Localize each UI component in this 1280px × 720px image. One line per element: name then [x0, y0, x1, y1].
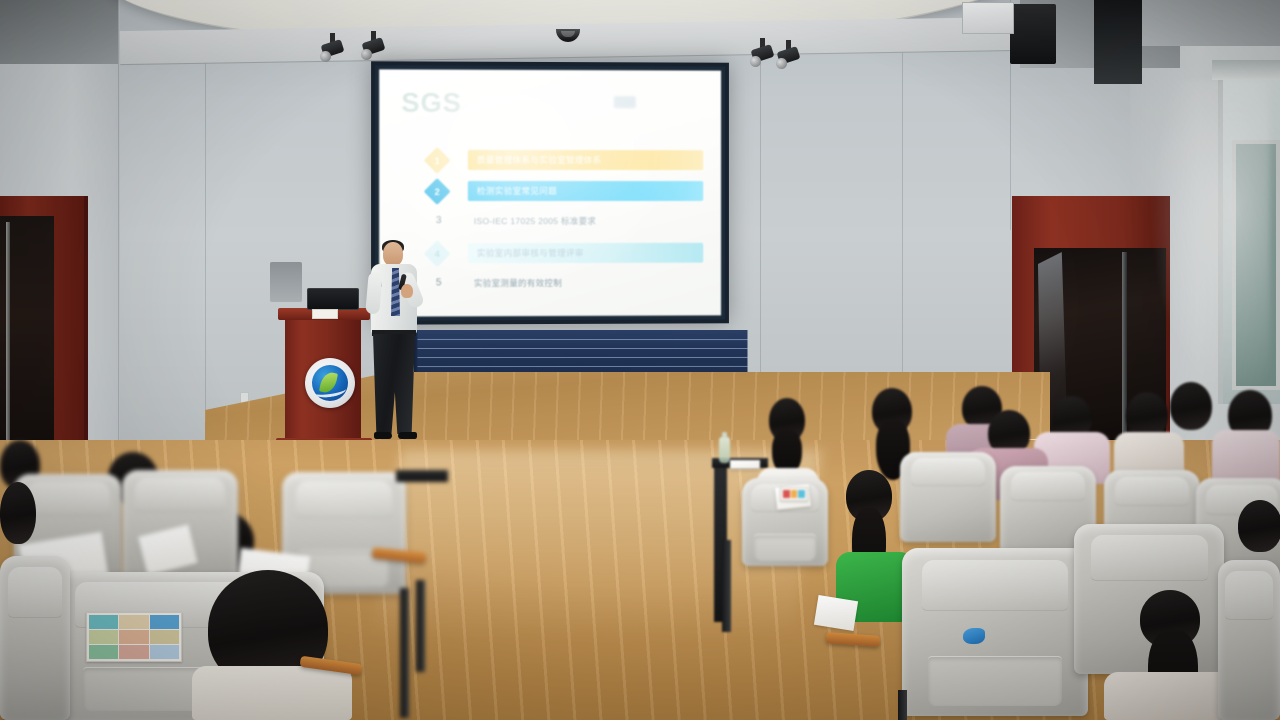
auditorium-seat[interactable] — [1218, 560, 1280, 720]
seat-leg — [898, 690, 907, 720]
emblem-globe-icon — [312, 365, 348, 401]
podium-emblem — [305, 358, 355, 408]
slide-surface: SGS 1 质量管理体系与实验室管理体系 2 — [379, 69, 721, 316]
attendee-body — [1212, 430, 1280, 484]
daylight-glare — [1150, 80, 1270, 400]
name-card — [312, 309, 338, 319]
slide-agenda-list: 1 质量管理体系与实验室管理体系 2 检测实验室常见问题 — [428, 148, 704, 304]
agenda-marker-5: 5 — [432, 277, 446, 288]
attendee-head — [0, 482, 36, 544]
seat-pocket — [928, 656, 1062, 706]
wall-seam — [118, 0, 119, 500]
seat-booklet — [780, 487, 808, 501]
auditorium-seat[interactable] — [902, 548, 1088, 716]
presenter-shoe — [374, 432, 392, 439]
agenda-row: 2 检测实验室常见问题 — [428, 179, 704, 205]
seat-leg — [416, 580, 425, 672]
auditorium-seat[interactable] — [900, 452, 996, 542]
attendee-head — [1170, 382, 1212, 430]
wall-sign — [962, 2, 1014, 34]
spotlight-lens — [776, 58, 787, 69]
handout-paper — [814, 595, 858, 631]
attendee-body — [1104, 672, 1234, 720]
seat-pocket — [754, 534, 816, 560]
agenda-row: 3 ISO-IEC 17025 2005 标准要求 — [428, 210, 704, 236]
panel-slat — [417, 339, 747, 340]
slide-decoration — [614, 96, 636, 108]
seat-leg — [400, 588, 409, 718]
projection-screen: SGS 1 质量管理体系与实验室管理体系 2 — [371, 61, 729, 324]
wall-niche — [270, 262, 302, 302]
handout-paper — [730, 460, 760, 469]
door-left-rail — [6, 222, 10, 458]
seat-booklet — [86, 612, 182, 662]
presenter-shoe — [398, 432, 417, 439]
agenda-row: 4 实验室内部审核与管理评审 — [428, 241, 704, 268]
agenda-marker-2: 2 — [424, 178, 451, 205]
presenter-hand — [401, 284, 413, 298]
lecture-hall-photo: SGS 1 质量管理体系与实验室管理体系 2 — [0, 0, 1280, 720]
stage-back-panel — [417, 330, 747, 374]
attendee-head — [1238, 500, 1280, 552]
panel-slat — [417, 366, 747, 367]
panel-slat — [417, 348, 747, 349]
ceiling-shadow-left — [0, 0, 118, 64]
panel-slat — [417, 357, 747, 358]
auditorium-seat[interactable] — [0, 556, 70, 720]
ceiling-speaker — [1010, 4, 1056, 64]
desk-top — [396, 470, 448, 482]
ceiling-dark-strip — [1094, 0, 1142, 84]
spotlight-lens — [320, 51, 331, 62]
presenter-head — [383, 242, 403, 266]
spotlight-lens — [750, 56, 761, 67]
ceiling-shadow-right-outer — [1128, 0, 1280, 46]
water-bottle — [719, 437, 730, 463]
agenda-marker-4: 4 — [424, 240, 451, 267]
presenter-tie — [391, 268, 400, 316]
emblem-swoosh-icon — [313, 383, 346, 399]
attendee-body — [192, 666, 352, 720]
agenda-bar-4: 实验室内部审核与管理评审 — [468, 243, 703, 263]
spotlight-lens — [361, 49, 372, 60]
agenda-label-5: 实验室测量的有效控制 — [474, 277, 562, 289]
window-header — [1212, 60, 1280, 80]
agenda-label-4: 实验室内部审核与管理评审 — [477, 247, 584, 259]
agenda-marker-1: 1 — [424, 147, 451, 174]
blue-item-in-pocket — [963, 628, 985, 644]
agenda-row: 1 质量管理体系与实验室管理体系 — [428, 148, 704, 174]
agenda-label-3: ISO-IEC 17025 2005 标准要求 — [474, 215, 596, 227]
agenda-row: 5 实验室测量的有效控制 — [428, 272, 704, 299]
agenda-bar-1: 质量管理体系与实验室管理体系 — [468, 150, 703, 170]
seat-leg — [722, 540, 731, 632]
laptop[interactable] — [307, 288, 359, 310]
agenda-bar-2: 检测实验室常见问题 — [468, 181, 703, 201]
agenda-label-1: 质量管理体系与实验室管理体系 — [477, 154, 602, 166]
sgs-logo: SGS — [401, 88, 461, 119]
agenda-label-2: 检测实验室常见问题 — [477, 185, 557, 197]
agenda-marker-3: 3 — [432, 215, 446, 226]
